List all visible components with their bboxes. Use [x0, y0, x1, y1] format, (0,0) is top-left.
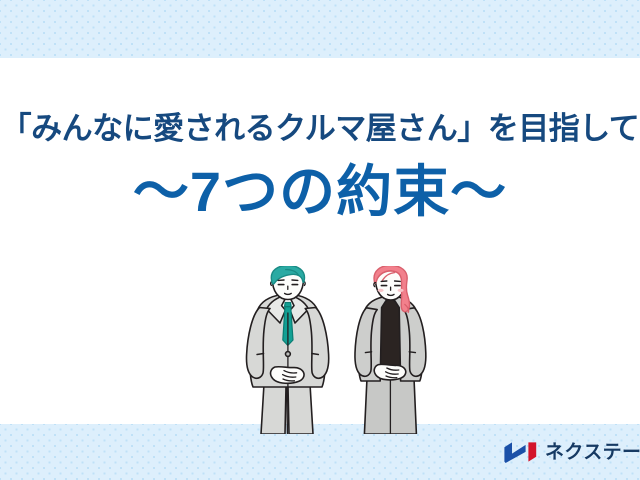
staff-illustration-svg [228, 266, 444, 434]
polka-dot-band-top [0, 0, 640, 58]
headline-block: 「みんなに愛されるクルマ屋さん」を目指して 〜7つの約束〜 [0, 112, 640, 222]
nexstage-logo: ネクステージ [503, 440, 640, 464]
two-staff-bowing-illustration [228, 266, 444, 434]
nexstage-n-mark-icon [503, 440, 538, 464]
nexstage-logo-text: ネクステージ [545, 443, 640, 462]
female-staff-figure [355, 266, 426, 434]
headline-primary: 「みんなに愛されるクルマ屋さん」を目指して [0, 112, 640, 147]
banner-canvas: 「みんなに愛されるクルマ屋さん」を目指して 〜7つの約束〜 [0, 0, 640, 480]
headline-secondary: 〜7つの約束〜 [0, 161, 640, 223]
male-staff-figure [246, 266, 328, 434]
